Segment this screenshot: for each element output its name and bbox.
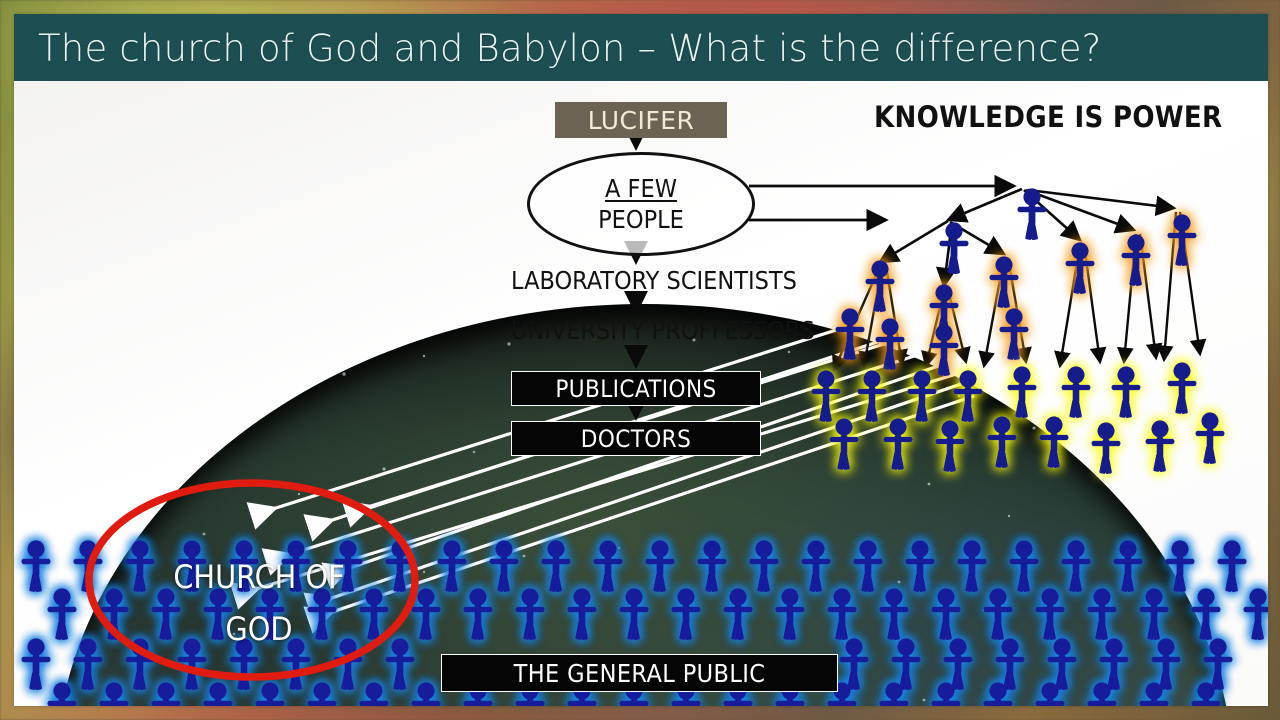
laboratory-scientists-label: LABORATORY SCIENTISTS — [511, 266, 781, 295]
publications-label: PUBLICATIONS — [555, 375, 716, 403]
slide-title-bar: The church of God and Babylon – What is … — [14, 14, 1268, 81]
doctors-label: DOCTORS — [581, 425, 691, 453]
a-few-people-ellipse[interactable]: A FEW PEOPLE — [527, 152, 755, 256]
lucifer-node-box[interactable]: LUCIFER — [555, 102, 727, 138]
general-public-label: THE GENERAL PUBLIC — [514, 659, 766, 688]
lucifer-label: LUCIFER — [588, 106, 695, 135]
doctors-box[interactable]: DOCTORS — [511, 421, 761, 456]
slide-root: LUCIFER A FEW PEOPLE LABORATORY SCIENTIS… — [0, 0, 1280, 720]
leader-figures — [940, 188, 1047, 274]
slide-canvas: LUCIFER A FEW PEOPLE LABORATORY SCIENTIS… — [14, 14, 1268, 706]
page-title: The church of God and Babylon – What is … — [38, 27, 1102, 70]
people-label: PEOPLE — [598, 205, 684, 234]
church-of-god-label: CHURCH OF GOD — [159, 552, 359, 656]
university-professors-label: UNIVERSITY PROFFESSORS — [511, 316, 781, 345]
publications-box[interactable]: PUBLICATIONS — [511, 371, 761, 406]
knowledge-is-power-heading: KNOWLEDGE IS POWER — [874, 100, 1222, 134]
general-public-box[interactable]: THE GENERAL PUBLIC — [441, 654, 838, 692]
a-few-label: A FEW — [605, 174, 677, 203]
church-of-god-text: CHURCH OF GOD — [173, 558, 344, 648]
